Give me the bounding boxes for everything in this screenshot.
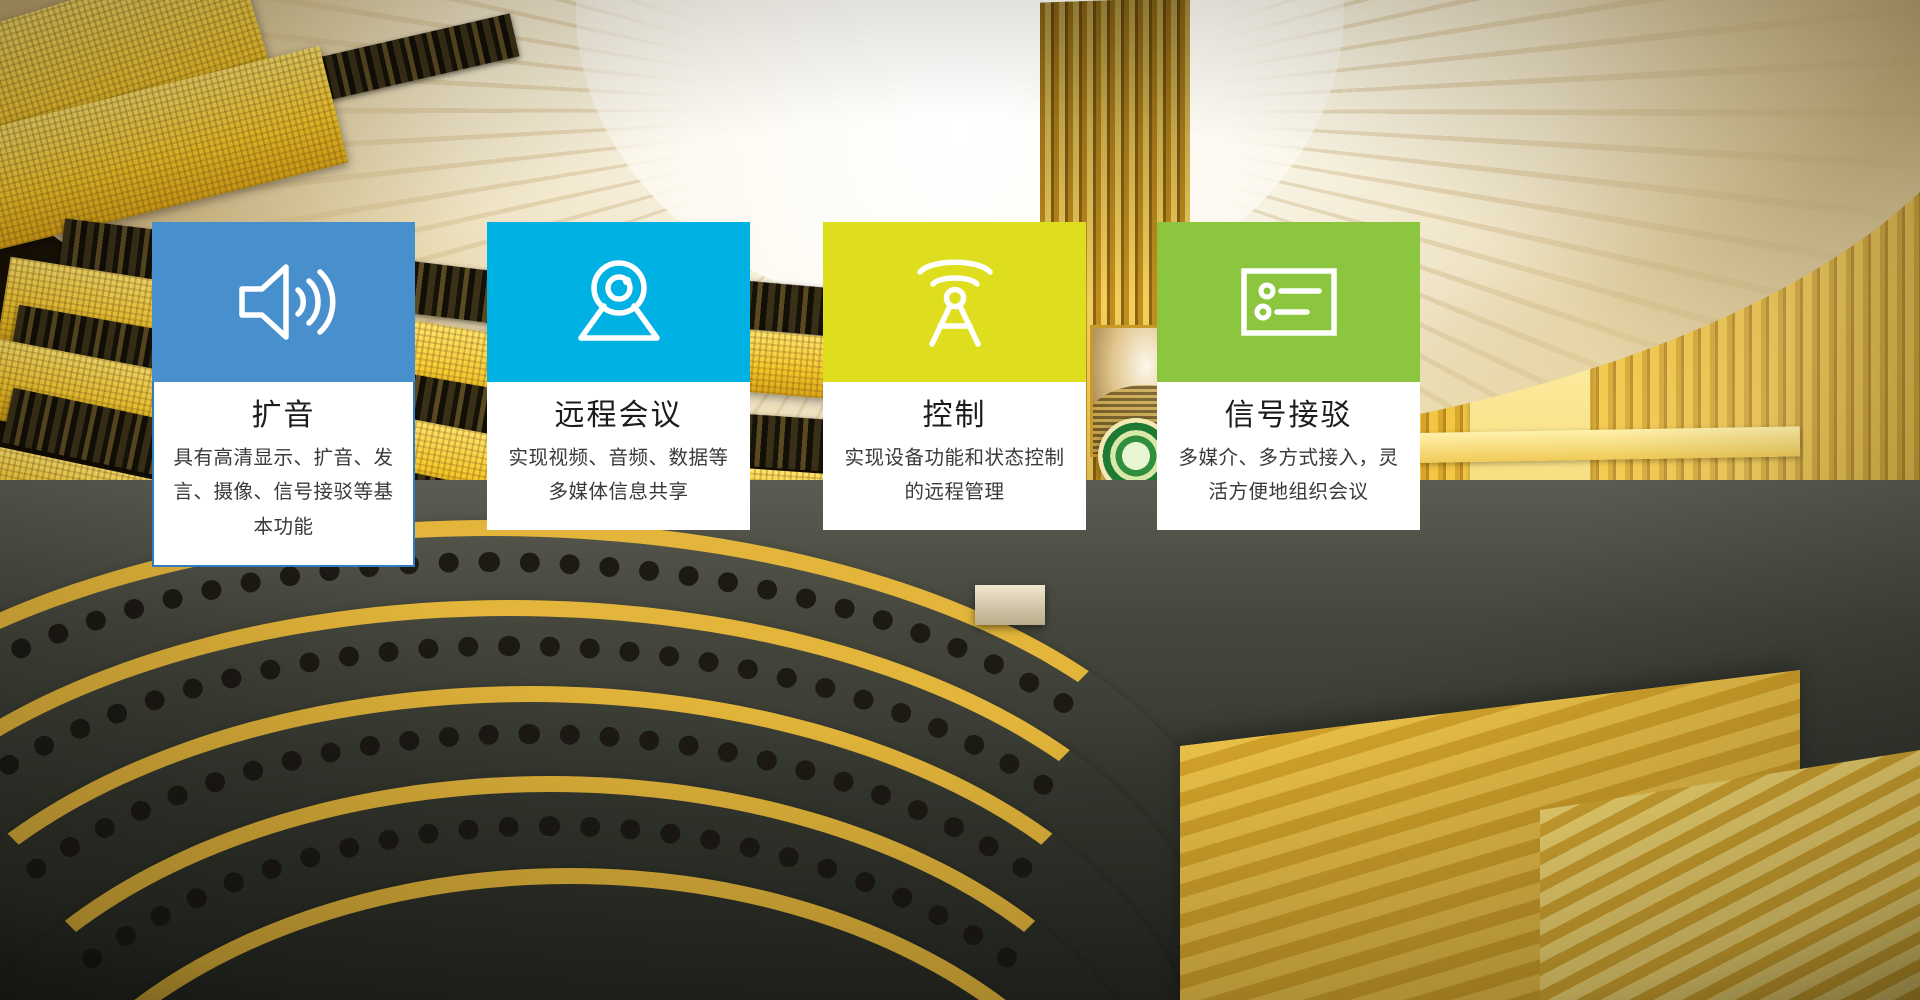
card-body: 远程会议 实现视频、音频、数据等多媒体信息共享 bbox=[487, 382, 750, 530]
card-title: 控制 bbox=[841, 396, 1068, 437]
webcam-icon bbox=[571, 256, 667, 348]
broadcast-tower-icon bbox=[909, 254, 1001, 350]
card-title: 扩音 bbox=[172, 396, 395, 437]
card-body: 控制 实现设备功能和状态控制的远程管理 bbox=[823, 382, 1086, 530]
card-body: 信号接驳 多媒介、多方式接入，灵活方便地组织会议 bbox=[1157, 382, 1420, 530]
feature-card-remote-meeting[interactable]: 远程会议 实现视频、音频、数据等多媒体信息共享 bbox=[487, 222, 750, 530]
card-description: 实现设备功能和状态控制的远程管理 bbox=[841, 441, 1068, 510]
card-icon-header bbox=[152, 222, 415, 382]
card-title: 信号接驳 bbox=[1175, 396, 1402, 437]
card-icon-header bbox=[823, 222, 1086, 382]
card-icon-header bbox=[1157, 222, 1420, 382]
card-description: 多媒介、多方式接入，灵活方便地组织会议 bbox=[1175, 441, 1402, 510]
card-body: 扩音 具有高清显示、扩音、发言、摄像、信号接驳等基本功能 bbox=[152, 382, 415, 567]
feature-card-row: 扩音 具有高清显示、扩音、发言、摄像、信号接驳等基本功能 远程会议 实现视频、音… bbox=[0, 0, 1920, 1000]
feature-card-control[interactable]: 控制 实现设备功能和状态控制的远程管理 bbox=[823, 222, 1086, 530]
card-icon-header bbox=[487, 222, 750, 382]
feature-card-amplification[interactable]: 扩音 具有高清显示、扩音、发言、摄像、信号接驳等基本功能 bbox=[152, 222, 415, 567]
card-description: 实现视频、音频、数据等多媒体信息共享 bbox=[505, 441, 732, 510]
card-title: 远程会议 bbox=[505, 396, 732, 437]
signal-panel-icon bbox=[1237, 262, 1341, 342]
loudspeaker-icon bbox=[232, 256, 336, 348]
card-description: 具有高清显示、扩音、发言、摄像、信号接驳等基本功能 bbox=[172, 441, 395, 545]
feature-card-signal-access[interactable]: 信号接驳 多媒介、多方式接入，灵活方便地组织会议 bbox=[1157, 222, 1420, 530]
